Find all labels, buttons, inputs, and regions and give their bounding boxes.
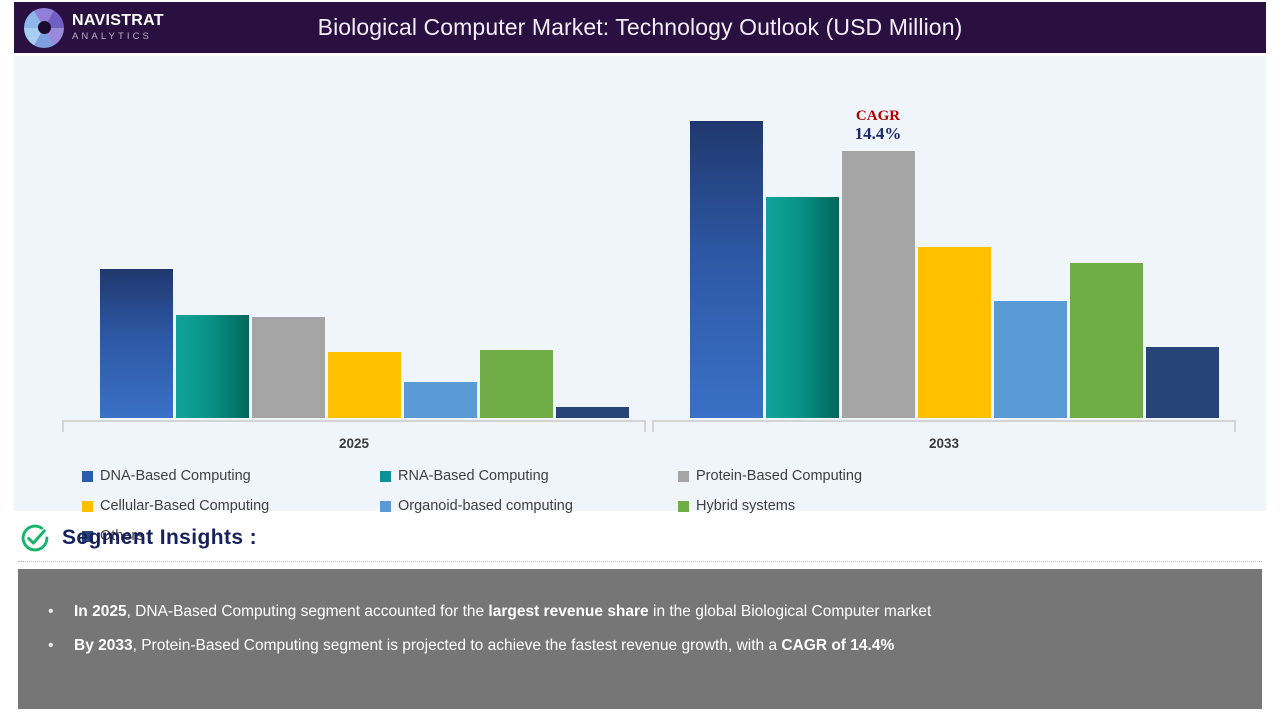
bar-2025-others xyxy=(556,407,629,418)
bullet-icon: • xyxy=(48,595,74,628)
group-label-2033: 2033 xyxy=(652,436,1236,451)
legend-item-organoid-based-computing[interactable]: Organoid-based computing xyxy=(380,491,678,521)
bar-plot-area: 20252033 xyxy=(14,56,1266,426)
legend-swatch-icon xyxy=(678,471,689,482)
group-label-2025: 2025 xyxy=(62,436,646,451)
legend-swatch-icon xyxy=(380,501,391,512)
app-header: NAVISTRAT ANALYTICS Biological Computer … xyxy=(14,2,1266,53)
legend-swatch-icon xyxy=(82,501,93,512)
bar-2025-cellular-based-computing xyxy=(328,352,401,418)
legend-label: Cellular-Based Computing xyxy=(100,498,269,514)
legend-item-protein-based-computing[interactable]: Protein-Based Computing xyxy=(678,461,976,491)
segment-insights-title: Segment Insights : xyxy=(62,526,257,550)
bar-2033-organoid-based-computing xyxy=(994,301,1067,418)
legend-item-rna-based-computing[interactable]: RNA-Based Computing xyxy=(380,461,678,491)
axis-bracket-2033 xyxy=(652,420,1236,432)
legend-label: Hybrid systems xyxy=(696,498,795,514)
cagr-annotation: CAGR 14.4% xyxy=(832,109,924,143)
legend-item-dna-based-computing[interactable]: DNA-Based Computing xyxy=(82,461,380,491)
insight-bullet-row: •In 2025, DNA-Based Computing segment ac… xyxy=(48,595,1232,628)
bar-2033-dna-based-computing xyxy=(690,121,763,418)
insight-bullet-row: •By 2033, Protein-Based Computing segmen… xyxy=(48,629,1232,662)
cagr-label: CAGR xyxy=(832,109,924,125)
bar-2033-rna-based-computing xyxy=(766,197,839,418)
bar-2033-others xyxy=(1146,347,1219,418)
insight-text: In 2025, DNA-Based Computing segment acc… xyxy=(74,595,1232,628)
cagr-value: 14.4% xyxy=(832,125,924,143)
legend-label: Protein-Based Computing xyxy=(696,468,862,484)
axis-bracket-2025 xyxy=(62,420,646,432)
legend-swatch-icon xyxy=(82,471,93,482)
legend-swatch-icon xyxy=(380,471,391,482)
segment-insights-header: Segment Insights : xyxy=(18,521,257,555)
legend-label: RNA-Based Computing xyxy=(398,468,549,484)
bar-2025-protein-based-computing xyxy=(252,317,325,418)
bar-2033-cellular-based-computing xyxy=(918,247,991,418)
segment-insights-body: •In 2025, DNA-Based Computing segment ac… xyxy=(18,569,1262,709)
legend-label: Organoid-based computing xyxy=(398,498,573,514)
chart-legend: DNA-Based ComputingRNA-Based ComputingPr… xyxy=(82,461,1252,551)
bar-2025-hybrid-systems xyxy=(480,350,553,418)
bar-2033-hybrid-systems xyxy=(1070,263,1143,418)
legend-item-hybrid-systems[interactable]: Hybrid systems xyxy=(678,491,976,521)
page-title: Biological Computer Market: Technology O… xyxy=(14,14,1266,41)
bar-2025-dna-based-computing xyxy=(100,269,173,418)
bar-2033-protein-based-computing xyxy=(842,151,915,418)
bar-2025-organoid-based-computing xyxy=(404,382,477,418)
legend-swatch-icon xyxy=(678,501,689,512)
check-circle-icon xyxy=(18,521,52,555)
chart-panel: 20252033 CAGR 14.4% DNA-Based ComputingR… xyxy=(14,56,1266,511)
bar-2025-rna-based-computing xyxy=(176,315,249,418)
legend-item-cellular-based-computing[interactable]: Cellular-Based Computing xyxy=(82,491,380,521)
insights-divider xyxy=(18,561,1262,562)
legend-label: DNA-Based Computing xyxy=(100,468,251,484)
bullet-icon: • xyxy=(48,629,74,662)
insight-text: By 2033, Protein-Based Computing segment… xyxy=(74,629,1232,662)
